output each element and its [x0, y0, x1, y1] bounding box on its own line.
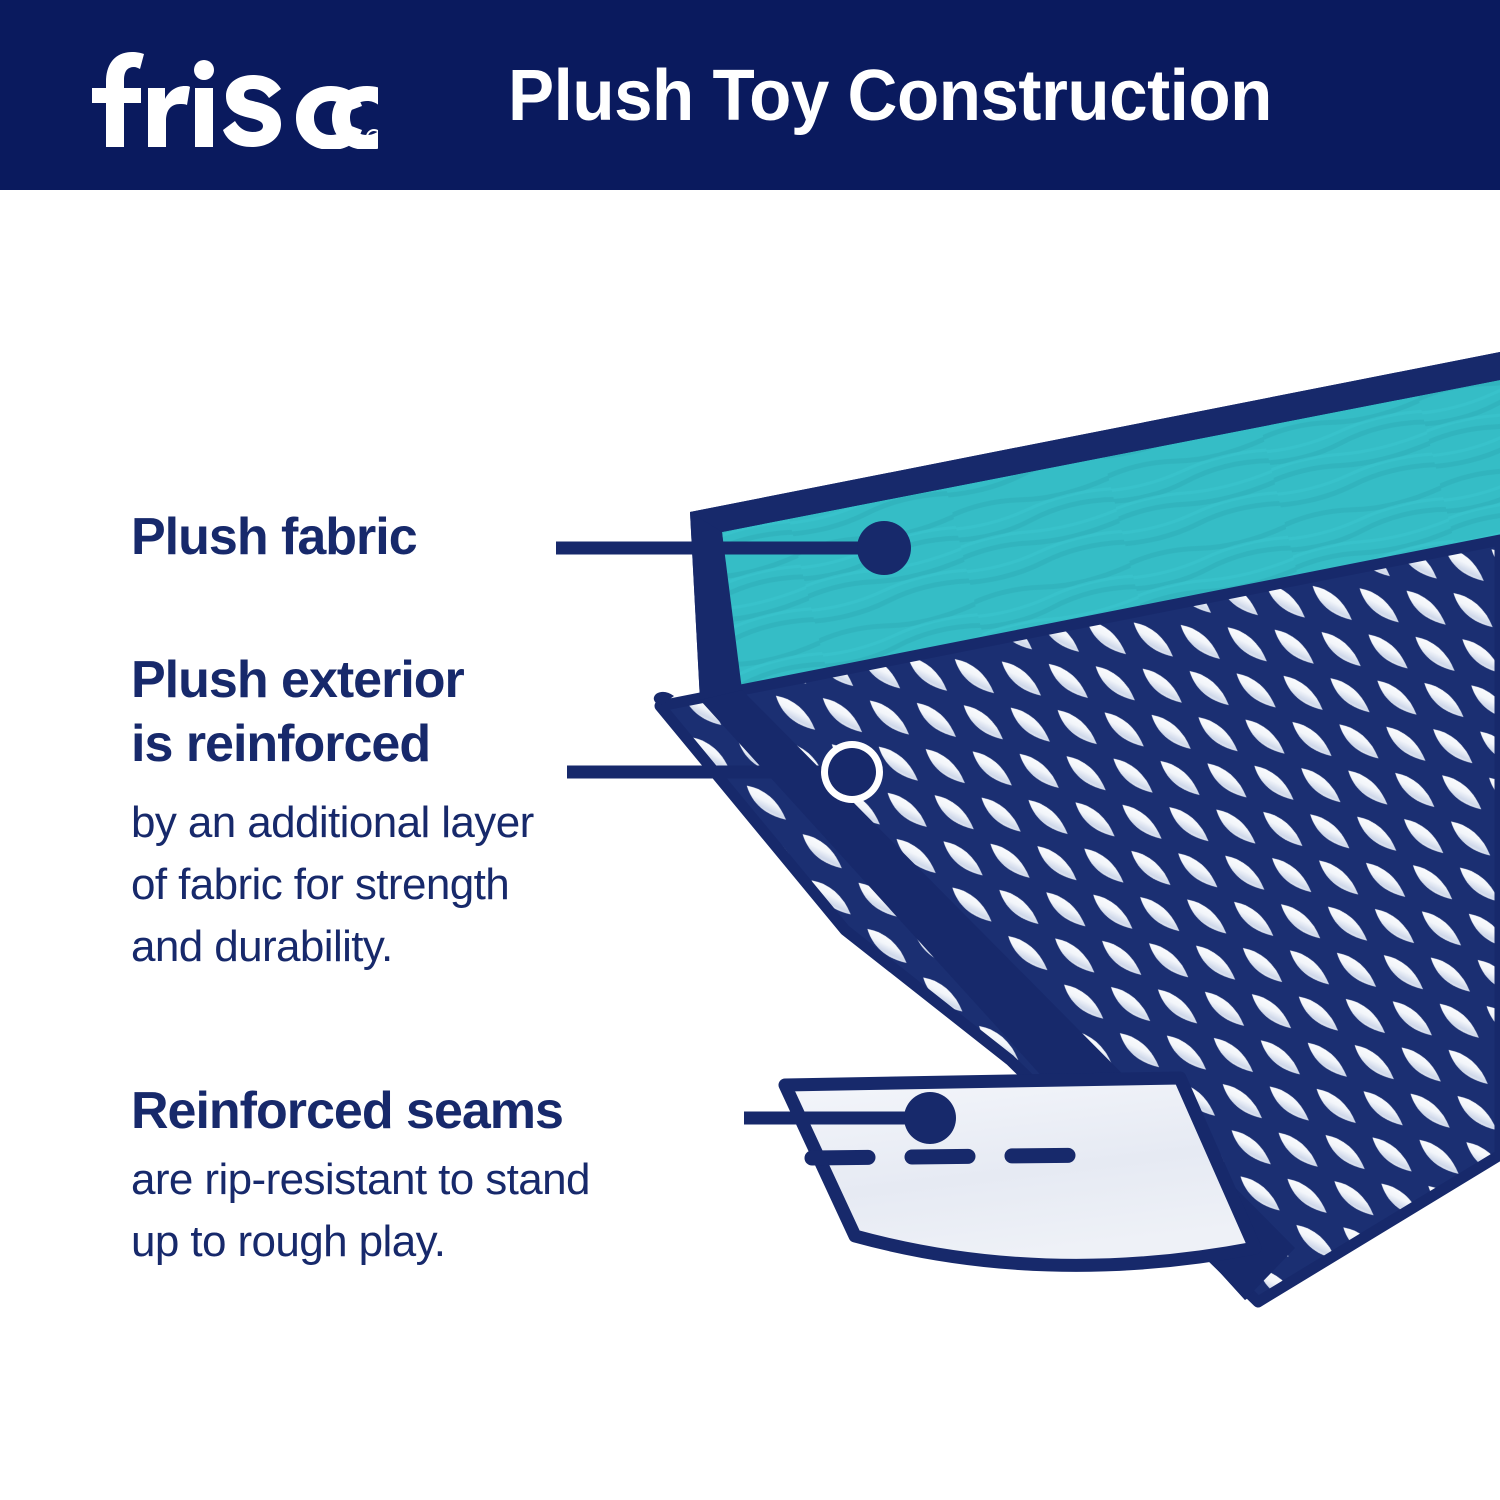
mesh-reinforcement-band — [600, 480, 1500, 1380]
leader-dot-ring-plush-exterior — [821, 741, 883, 803]
callout-plush-fabric: Plush fabric — [131, 505, 417, 569]
callout-plush-exterior: Plush exterior is reinforced by an addit… — [131, 648, 534, 978]
callout-leaders — [556, 521, 956, 1144]
header-bar: R Plush Toy Construction — [0, 0, 1500, 190]
seam-flap — [785, 1078, 1255, 1265]
stitch-dashes — [812, 1155, 1100, 1158]
panel-fold-spine — [690, 512, 1295, 1300]
callout-heading-line-1: Plush exterior — [131, 648, 534, 712]
infographic-page: R Plush Toy Construction — [0, 0, 1500, 1500]
callout-heading-reinforced-seams: Reinforced seams — [131, 1079, 590, 1143]
callout-body-seams-line-2: up to rough play. — [131, 1211, 590, 1273]
callout-heading-line-2: is reinforced — [131, 712, 534, 776]
leader-dot-plush-fabric — [857, 521, 911, 575]
callout-body-line-1: by an additional layer — [131, 792, 534, 854]
teal-plush-panel — [690, 352, 1500, 1300]
leader-dot-plush-exterior — [828, 748, 876, 796]
callout-body-line-3: and durability. — [131, 916, 534, 978]
callout-body-line-2: of fabric for strength — [131, 854, 534, 916]
frisco-logo: R — [78, 44, 378, 149]
callout-heading-plush-fabric: Plush fabric — [131, 505, 417, 569]
callout-reinforced-seams: Reinforced seams are rip-resistant to st… — [131, 1079, 590, 1273]
page-title: Plush Toy Construction — [508, 46, 1353, 146]
leader-dot-reinforced-seams — [904, 1092, 956, 1144]
svg-text:R: R — [371, 134, 377, 144]
callout-body-seams-line-1: are rip-resistant to stand — [131, 1149, 590, 1211]
